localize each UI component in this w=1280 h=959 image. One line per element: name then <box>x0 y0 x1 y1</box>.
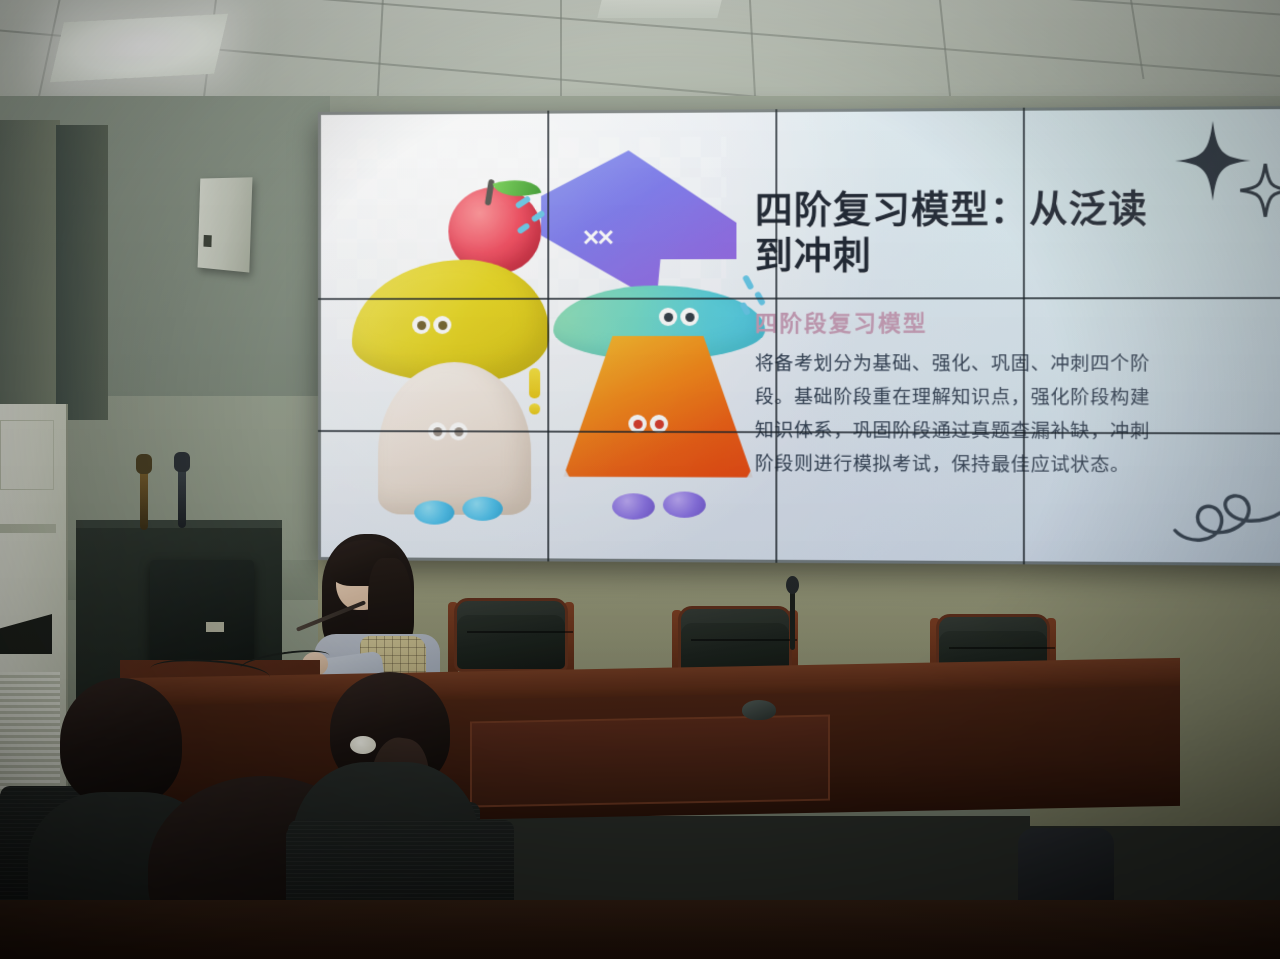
purple-blob-x-eyes: ✕✕ <box>582 225 623 249</box>
hair-scrunchie <box>350 736 376 754</box>
air-conditioner-unit <box>0 404 68 794</box>
slide-illustration: ✕✕ <box>338 138 763 543</box>
purple-arrow-blob <box>537 150 736 302</box>
exclamation-mark <box>529 368 541 414</box>
eye-right <box>650 415 668 433</box>
chair-seam <box>949 647 1055 649</box>
table-microphone <box>790 588 795 650</box>
slide-title: 四阶复习模型：从泛读 到冲刺 <box>755 186 1276 279</box>
eye-left <box>659 308 677 326</box>
motion-dash <box>742 274 755 290</box>
slide-title-line-1: 四阶复习模型：从泛读 <box>755 186 1276 234</box>
slide-body-line: 知识体系，巩固阶段通过真题查漏补缺，冲刺 <box>755 415 1276 450</box>
slide-text-block: 四阶复习模型：从泛读 到冲刺 四阶段复习模型 将备考划分为基础、强化、巩固、冲刺… <box>755 186 1276 484</box>
computer-mouse <box>742 700 776 720</box>
presenter <box>300 528 480 688</box>
orange-blob-character <box>563 336 752 490</box>
purple-foot-right <box>663 491 706 517</box>
blue-foot-right <box>462 497 502 521</box>
ac-panel <box>0 420 54 490</box>
slide-body-line: 将备考划分为基础、强化、巩固、冲刺四个阶 <box>755 348 1276 382</box>
cream-blob-eyes <box>428 422 467 440</box>
gooseneck-microphone <box>140 468 148 530</box>
led-video-wall[interactable]: ✕✕ <box>318 106 1280 566</box>
slide-title-line-2: 到冲刺 <box>755 232 1276 279</box>
presentation-slide: ✕✕ <box>318 106 1280 566</box>
slide-subtitle: 四阶段复习模型 <box>755 305 1276 338</box>
table-front-panel <box>470 715 830 808</box>
slide-body: 将备考划分为基础、强化、巩固、冲刺四个阶 段。基础阶段重在理解知识点，强化阶段构… <box>755 348 1276 483</box>
ceiling-led-panel-light <box>50 14 228 82</box>
slide-body-line: 阶段则进行模拟考试，保持最佳应试状态。 <box>755 448 1276 483</box>
ceiling-light-strip <box>597 0 722 18</box>
floor <box>0 900 1280 959</box>
chair-seam <box>467 631 573 633</box>
orange-blob-eyes <box>628 415 668 433</box>
wall-speaker <box>198 177 253 272</box>
yellow-blob-eyes <box>412 316 451 334</box>
gooseneck-microphone <box>178 466 186 528</box>
ac-grille <box>0 672 60 794</box>
desktop-monitor <box>150 560 254 668</box>
monitor-label <box>206 622 224 632</box>
slide-body-line: 段。基础阶段重在理解知识点，强化阶段构建 <box>755 382 1276 416</box>
audience-head <box>60 678 182 806</box>
eye-right <box>680 308 698 326</box>
teal-blob-eyes <box>659 308 699 326</box>
chair-seam <box>691 639 797 641</box>
eye-left <box>412 316 430 334</box>
left-wall-dark-panel <box>56 125 108 420</box>
eye-right <box>449 422 467 440</box>
left-wall-column <box>0 120 60 420</box>
eye-right <box>433 316 451 334</box>
presentation-room-scene: ✕✕ <box>0 0 1280 959</box>
blue-foot-left <box>414 500 454 524</box>
eye-left <box>628 415 646 433</box>
eye-left <box>428 422 446 440</box>
purple-foot-left <box>612 493 655 519</box>
ac-vent-slot <box>0 524 56 533</box>
